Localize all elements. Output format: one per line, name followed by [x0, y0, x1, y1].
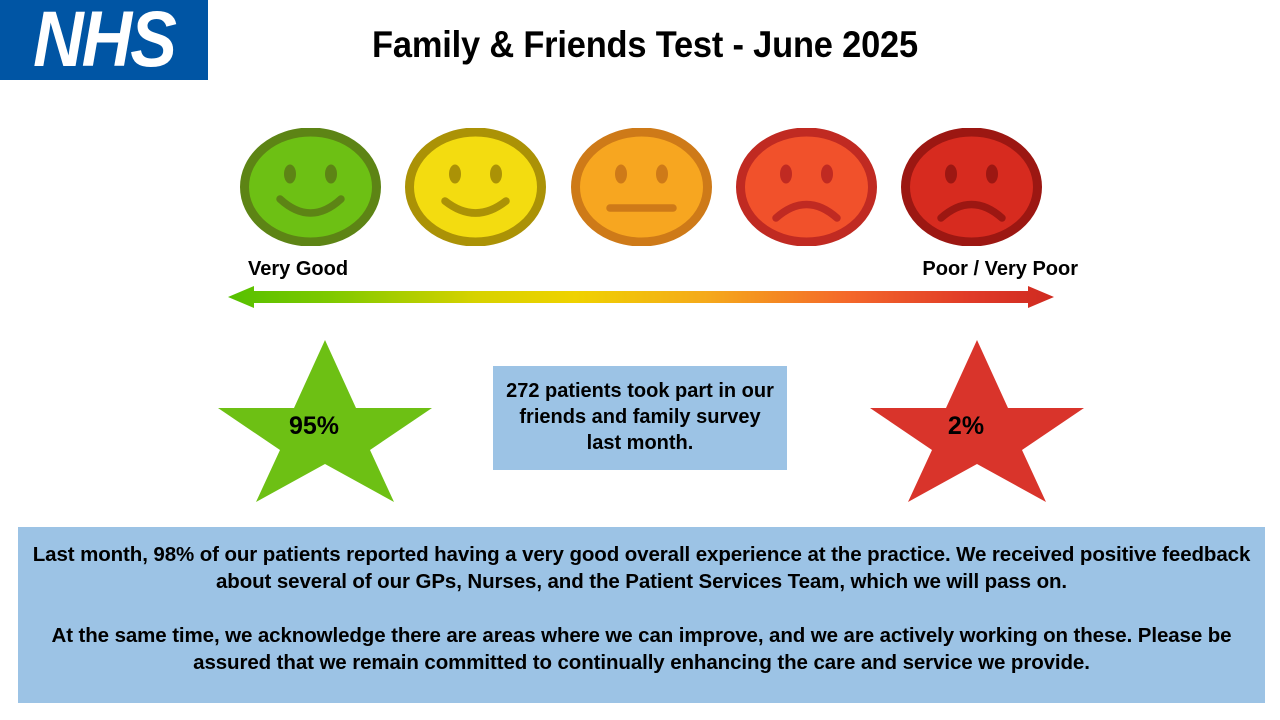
participant-count-box: 272 patients took part in our friends an… [493, 366, 787, 470]
neutral-face [569, 128, 714, 246]
scale-label-poor-very-poor: Poor / Very Poor [922, 255, 1078, 283]
positive-score-star: 95% [210, 334, 440, 504]
scale-label-very-good: Very Good [248, 255, 348, 283]
scale-labels: Very Good Poor / Very Poor [238, 255, 1078, 283]
star-shape-icon [210, 334, 440, 504]
summary-panel: Last month, 98% of our patients reported… [18, 527, 1265, 703]
very-good-face [238, 128, 383, 246]
negative-score-star: 2% [862, 334, 1092, 504]
page-title: Family & Friends Test - June 2025 [324, 18, 966, 72]
nhs-logo-text: NHS [33, 0, 175, 78]
summary-paragraph-spacer [26, 595, 1257, 622]
good-face [403, 128, 548, 246]
gradient-scale-arrow-icon [228, 284, 1054, 310]
very-poor-face [899, 128, 1044, 246]
poor-face [734, 128, 879, 246]
summary-paragraph-1: Last month, 98% of our patients reported… [26, 541, 1257, 595]
participant-count-text: 272 patients took part in our friends an… [505, 378, 775, 456]
summary-paragraph-2: At the same time, we acknowledge there a… [26, 622, 1257, 676]
star-shape-icon [862, 334, 1092, 504]
nhs-logo: NHS [0, 0, 208, 80]
rating-face-row [238, 128, 1044, 246]
